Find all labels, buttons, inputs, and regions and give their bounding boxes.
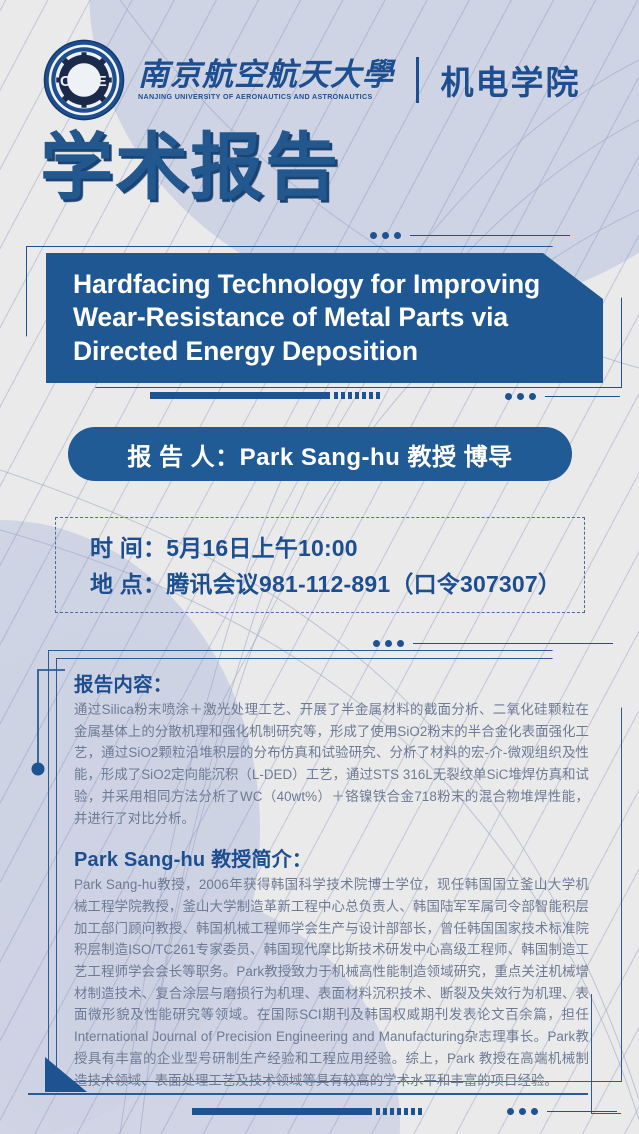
- dash: [390, 1108, 394, 1115]
- speaker-label: 报 告 人：Park Sang-hu 教授 博导: [127, 437, 512, 472]
- page-title: 学术报告: [40, 131, 340, 204]
- bottom-rule: [28, 1093, 588, 1095]
- title-banner: Hardfacing Technology for Improving Wear…: [46, 253, 603, 383]
- college-name: 机电学院: [441, 56, 581, 104]
- dash-group: [376, 1108, 422, 1115]
- bar-with-dashes-icon: [192, 1108, 372, 1115]
- decor-rule: [547, 1111, 617, 1113]
- talk-title: Hardfacing Technology for Improving Wear…: [46, 268, 603, 367]
- dash: [411, 1108, 415, 1115]
- three-dots-icon: [507, 1108, 514, 1115]
- nuaa-cme-emblem-icon: C E: [42, 38, 126, 122]
- dash: [397, 1108, 401, 1115]
- three-dots-icon: [370, 232, 377, 239]
- dash-group: [334, 392, 380, 399]
- three-dots-icon: [529, 393, 536, 400]
- dots-rule-above-content: [373, 640, 613, 647]
- event-place: 地 点：腾讯会议981-112-891（口令307307）: [90, 567, 584, 603]
- header: C E 南京航空航天大學 NANJING UNIVERSITY OF AERON…: [42, 38, 581, 122]
- three-dots-icon: [397, 640, 404, 647]
- abstract-heading: 报告内容：: [74, 668, 589, 697]
- dash: [355, 392, 359, 399]
- dots-rule-above-banner: [370, 232, 570, 239]
- dash: [334, 392, 338, 399]
- event-details-box: 时 间：5月16日上午10:00 地 点：腾讯会议981-112-891（口令3…: [55, 517, 585, 613]
- dash: [376, 392, 380, 399]
- three-dots-icon: [382, 232, 389, 239]
- university-name-block: 南京航空航天大學 NANJING UNIVERSITY OF AERONAUTI…: [138, 59, 394, 101]
- three-dots-icon: [517, 393, 524, 400]
- decor-rule: [410, 235, 570, 237]
- three-dots-icon: [385, 640, 392, 647]
- three-dots-icon: [519, 1108, 526, 1115]
- dots-rule-below-banner: [505, 393, 620, 400]
- bar-dash-bottom: [192, 1108, 422, 1115]
- university-name-cn: 南京航空航天大學: [138, 59, 394, 92]
- dash: [348, 392, 352, 399]
- line-with-dot-icon: [26, 668, 66, 788]
- content-body: 报告内容： 通过Silica粉末喷涂＋激光处理工艺、开展了半金属材料的截面分析、…: [74, 668, 589, 1091]
- bottom-right-frame: [591, 994, 621, 1114]
- three-dots-icon: [394, 232, 401, 239]
- poster-canvas: C E 南京航空航天大學 NANJING UNIVERSITY OF AERON…: [0, 0, 639, 1134]
- dash: [404, 1108, 408, 1115]
- bio-text: Park Sang-hu教授，2006年获得韩国科学技术院博士学位，现任韩国国立…: [74, 874, 589, 1091]
- dots-rule-bottom: [507, 1108, 617, 1115]
- abstract-text: 通过Silica粉末喷涂＋激光处理工艺、开展了半金属材料的截面分析、二氧化硅颗粒…: [74, 699, 589, 829]
- dash: [418, 1108, 422, 1115]
- event-time: 时 间：5月16日上午10:00: [90, 531, 584, 567]
- dash: [369, 392, 373, 399]
- svg-text:C: C: [60, 73, 71, 90]
- bar-dash-below-banner: [150, 392, 380, 399]
- header-divider: [416, 57, 419, 103]
- bar-with-dashes-icon: [150, 392, 330, 399]
- three-dots-icon: [531, 1108, 538, 1115]
- three-dots-icon: [505, 393, 512, 400]
- speaker-banner: 报 告 人：Park Sang-hu 教授 博导: [68, 427, 572, 481]
- decor-rule: [413, 643, 613, 645]
- svg-text:E: E: [97, 73, 107, 90]
- dash: [383, 1108, 387, 1115]
- dash: [362, 392, 366, 399]
- decor-rule: [545, 396, 620, 398]
- three-dots-icon: [373, 640, 380, 647]
- dash: [376, 1108, 380, 1115]
- university-name-en: NANJING UNIVERSITY OF AERONAUTICS AND AS…: [138, 93, 394, 101]
- bio-heading: Park Sang-hu 教授简介：: [74, 843, 589, 872]
- section-spacer: [74, 829, 589, 843]
- dash: [341, 392, 345, 399]
